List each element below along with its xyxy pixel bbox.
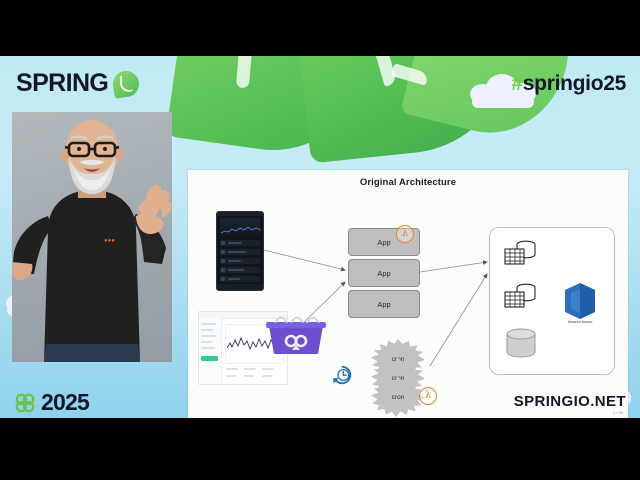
video-player-stage: Original Architecture 1 / 55 [0,0,640,480]
svg-text:●●●: ●●● [104,238,115,244]
event-year-mark: 2025 [14,389,89,416]
speaker-figure: ●●● [12,112,172,362]
hash-symbol: # [511,72,522,95]
letterbox-bottom [0,418,640,480]
letterbox-top [0,0,640,56]
event-website: SPRINGIO.NET [514,393,626,410]
spring-io-clover-icon [14,392,36,414]
spring-logo-text: SPRING [16,69,108,98]
spring-logo: SPRING [16,69,139,98]
event-year-text: 2025 [41,389,89,416]
hashtag-text: springio25 [523,72,626,95]
balloon-basket-icon [263,314,329,356]
event-hashtag: #springio25 [511,72,626,96]
speaker-video: ●●● [12,112,172,362]
spring-leaf-icon [112,69,141,98]
architecture-connectors [188,170,628,418]
